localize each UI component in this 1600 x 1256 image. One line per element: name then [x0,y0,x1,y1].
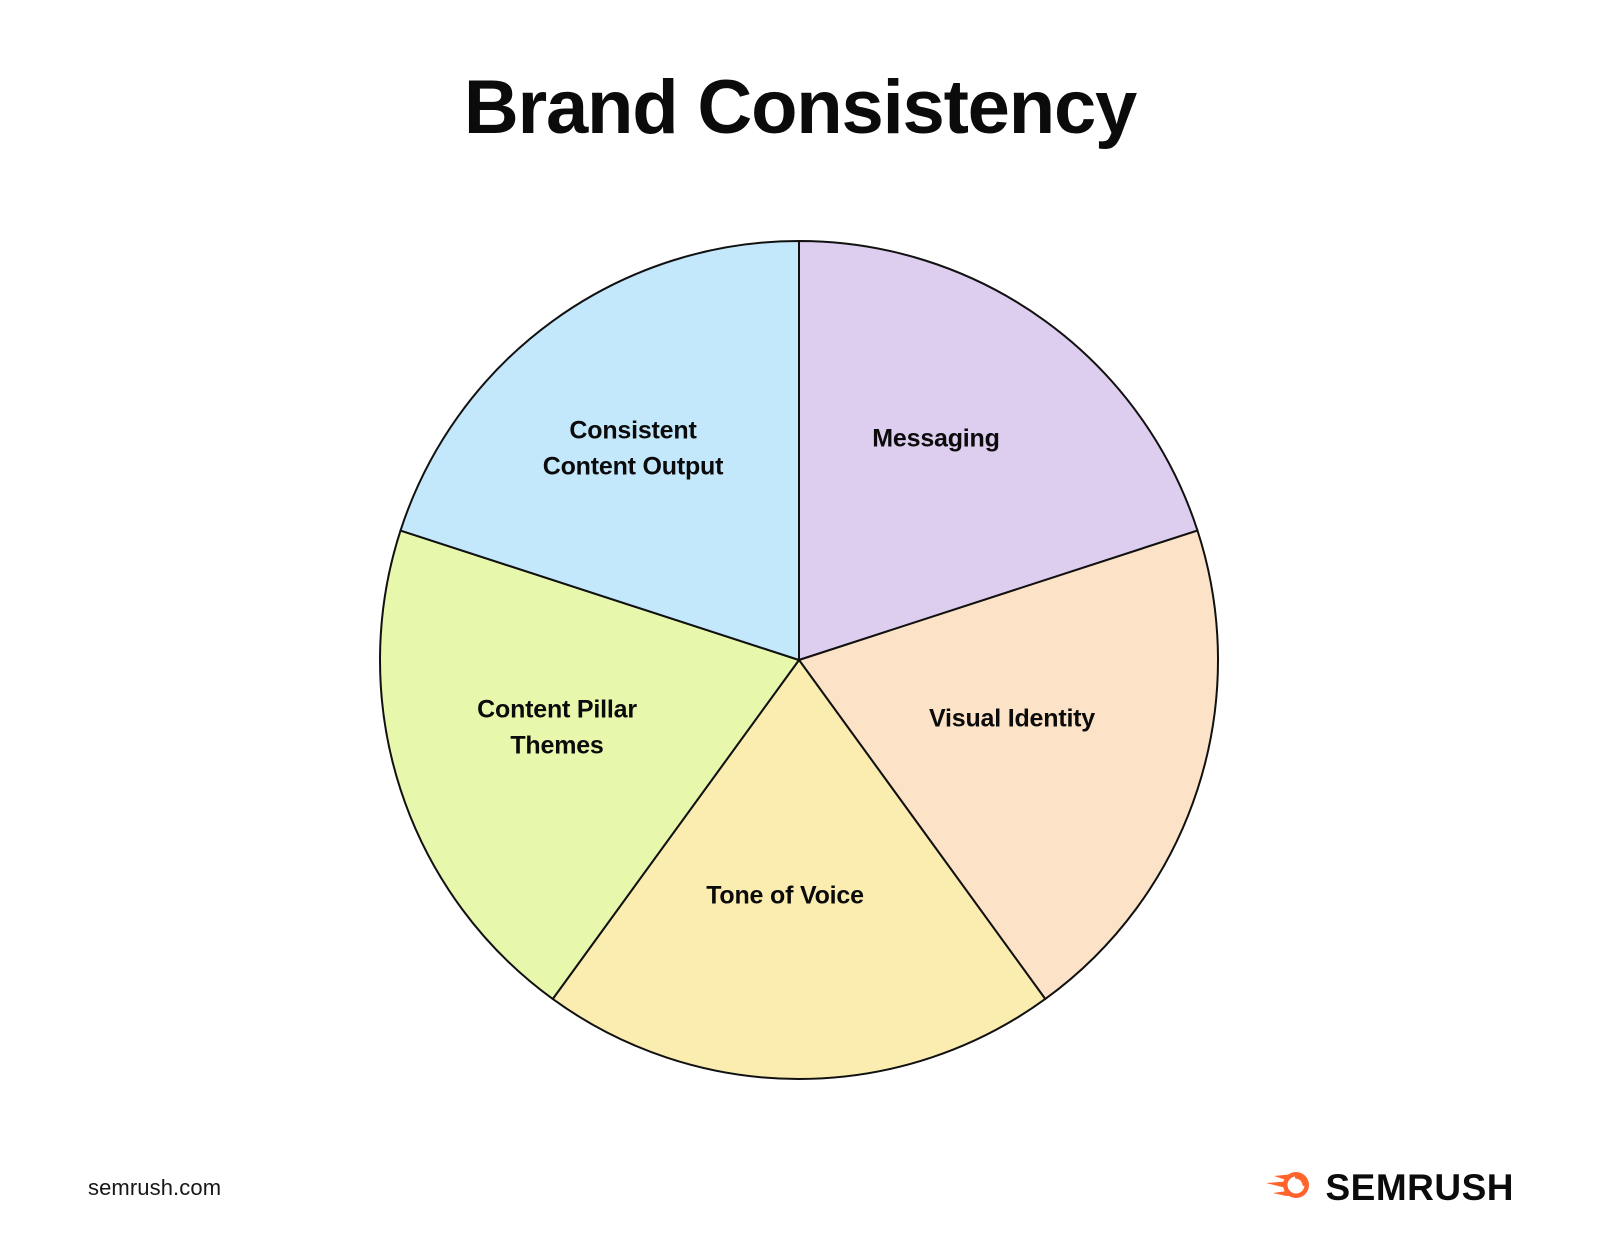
semrush-comet-icon [1264,1166,1312,1209]
footer-url[interactable]: semrush.com [88,1175,221,1201]
pie-chart: MessagingVisual IdentityTone of VoiceCon… [0,0,1600,1256]
semrush-logo[interactable]: SEMRUSH [1264,1166,1514,1209]
pie-slice-group [380,241,1218,1079]
pie-chart-svg [0,0,1600,1256]
comet-icon-svg [1264,1166,1312,1204]
semrush-wordmark: SEMRUSH [1325,1169,1514,1206]
